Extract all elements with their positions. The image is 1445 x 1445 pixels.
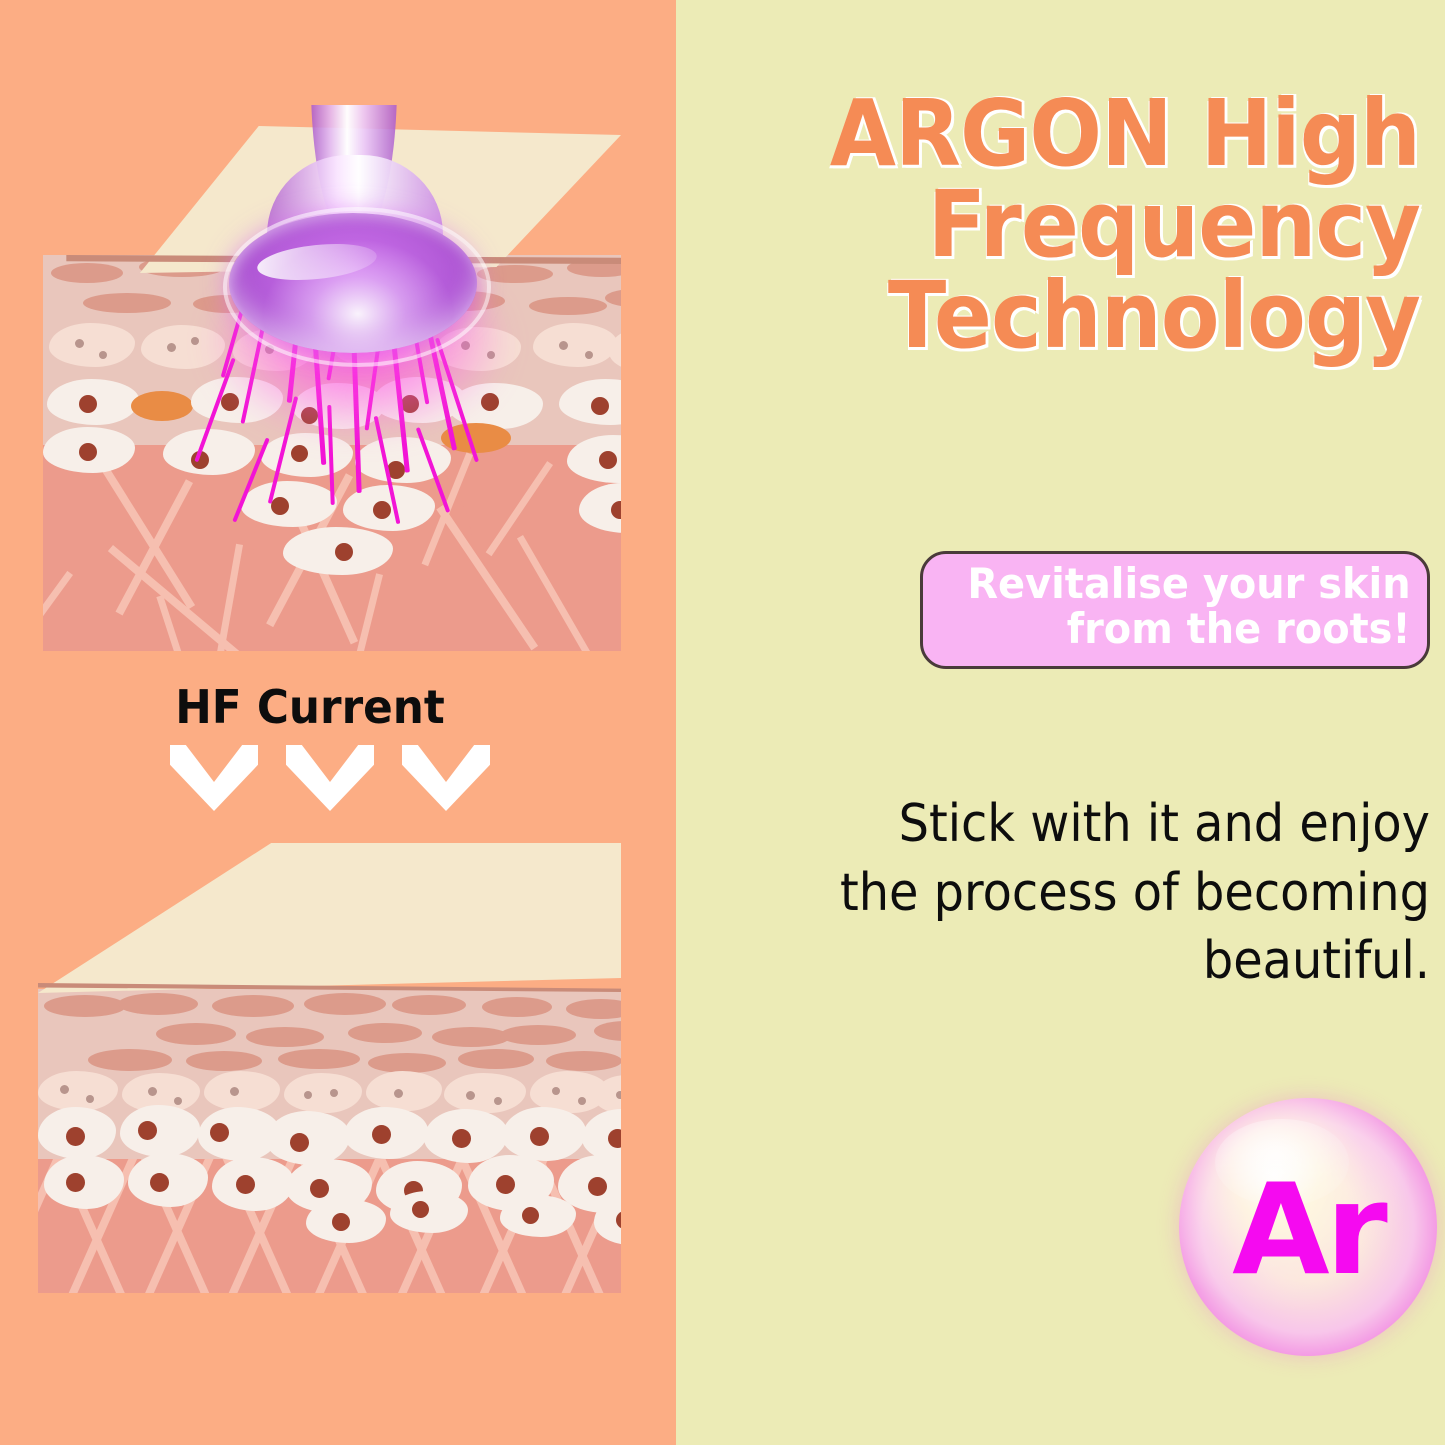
- cell-nucleus: [522, 1207, 539, 1224]
- cell-nucleus: [335, 543, 353, 561]
- corneocyte: [246, 1027, 324, 1047]
- skin-cell: [120, 1105, 200, 1157]
- cell-nucleus: [599, 451, 617, 469]
- cell-nucleus: [310, 1179, 329, 1198]
- cell-nucleus: [271, 497, 289, 515]
- cell-nucleus: [496, 1175, 515, 1194]
- cell-nucleus: [230, 1087, 239, 1096]
- cell-nucleus: [174, 1097, 182, 1105]
- cell-nucleus: [148, 1087, 157, 1096]
- chevron-down-icon: [286, 745, 374, 811]
- cell-nucleus: [167, 343, 176, 352]
- skin-cell: [444, 1073, 526, 1113]
- corneocyte: [458, 1049, 534, 1069]
- cell-nucleus: [588, 1177, 607, 1196]
- corneocyte: [156, 1023, 236, 1045]
- corneocyte: [348, 1023, 422, 1043]
- corneocyte: [186, 1051, 262, 1071]
- badge-text: Revitalise your skin from the roots!: [968, 562, 1411, 651]
- tagline-badge: Revitalise your skin from the roots!: [920, 551, 1430, 669]
- argon-element-badge: Ar: [1179, 1098, 1437, 1356]
- cell-nucleus: [530, 1127, 549, 1146]
- cell-nucleus: [466, 1091, 475, 1100]
- poster-root: HF Current: [0, 0, 1445, 1445]
- cell-nucleus: [221, 393, 239, 411]
- corneocyte: [500, 1025, 576, 1045]
- tagline-line-3: beautiful.: [832, 927, 1430, 996]
- skin-cell: [390, 1191, 468, 1233]
- cell-nucleus: [552, 1087, 560, 1095]
- cell-nucleus: [412, 1201, 429, 1218]
- headline-line-1: ARGON High: [750, 88, 1420, 179]
- skin-cell: [38, 1071, 118, 1111]
- skin-diagram-top: [43, 105, 621, 651]
- cell-nucleus: [150, 1173, 169, 1192]
- page-title: ARGON High Frequency Technology: [750, 88, 1420, 361]
- cell-nucleus: [60, 1085, 69, 1094]
- cell-nucleus: [481, 393, 499, 411]
- skin-surface-bottom: [38, 843, 621, 993]
- cell-nucleus: [616, 1091, 621, 1099]
- hf-current-arrows: [0, 745, 620, 815]
- corneocyte: [482, 997, 552, 1017]
- corneocyte: [368, 1053, 446, 1073]
- corneocyte: [529, 297, 607, 315]
- skin-cell: [49, 323, 135, 367]
- corneocyte: [83, 293, 171, 313]
- corneocyte: [392, 995, 466, 1015]
- tagline-line-2: the process of becoming: [832, 859, 1430, 928]
- corneocyte: [546, 1051, 621, 1071]
- cell-nucleus: [559, 341, 568, 350]
- cell-nucleus: [330, 1089, 338, 1097]
- cell-nucleus: [394, 1089, 403, 1098]
- cell-nucleus: [585, 351, 593, 359]
- corneocyte: [432, 1027, 510, 1047]
- corneocyte: [118, 993, 198, 1015]
- cell-nucleus: [66, 1127, 85, 1146]
- cell-nucleus: [372, 1125, 391, 1144]
- cell-nucleus: [291, 445, 308, 462]
- corneocyte: [212, 995, 294, 1017]
- cell-nucleus: [138, 1121, 157, 1140]
- skin-cell: [163, 429, 255, 475]
- corneocyte: [51, 263, 123, 283]
- cell-nucleus: [373, 501, 391, 519]
- chevron-down-icon: [402, 745, 490, 811]
- cell-nucleus: [86, 1095, 94, 1103]
- cell-nucleus: [452, 1129, 471, 1148]
- cell-nucleus: [79, 443, 97, 461]
- high-frequency-glass-wand: [193, 105, 513, 385]
- argon-symbol: Ar: [1232, 1167, 1384, 1293]
- cell-nucleus: [332, 1213, 350, 1231]
- badge-line-1: Revitalise your skin: [968, 562, 1411, 607]
- skin-cell: [204, 1071, 280, 1111]
- tagline-line-1: Stick with it and enjoy: [832, 790, 1430, 859]
- cell-nucleus: [66, 1173, 85, 1192]
- chevron-down-icon: [170, 745, 258, 811]
- corneocyte: [278, 1049, 360, 1069]
- hf-current-label: HF Current: [16, 680, 605, 734]
- corneocyte: [304, 993, 386, 1015]
- headline-line-2: Frequency: [750, 179, 1420, 270]
- sebum-blob: [131, 391, 193, 421]
- cell-nucleus: [608, 1129, 621, 1148]
- cell-nucleus: [591, 397, 609, 415]
- cell-nucleus: [79, 395, 97, 413]
- skin-cell: [241, 481, 337, 527]
- skin-cell: [533, 323, 617, 367]
- supporting-copy: Stick with it and enjoy the process of b…: [832, 790, 1430, 996]
- wand-bulb-rim: [223, 207, 491, 367]
- corneocyte: [88, 1049, 172, 1071]
- cell-nucleus: [75, 339, 84, 348]
- skin-diagram-bottom: [38, 843, 621, 1293]
- cell-nucleus: [578, 1097, 586, 1105]
- corneocyte: [44, 995, 126, 1017]
- skin-cell: [366, 1071, 442, 1111]
- cell-nucleus: [210, 1123, 229, 1142]
- badge-line-2: from the roots!: [968, 607, 1411, 652]
- headline-line-3: Technology: [750, 270, 1420, 361]
- cell-nucleus: [304, 1091, 312, 1099]
- cell-nucleus: [236, 1175, 255, 1194]
- cell-nucleus: [99, 351, 107, 359]
- skin-cell: [284, 1073, 362, 1113]
- cell-nucleus: [290, 1133, 309, 1152]
- cell-nucleus: [494, 1097, 502, 1105]
